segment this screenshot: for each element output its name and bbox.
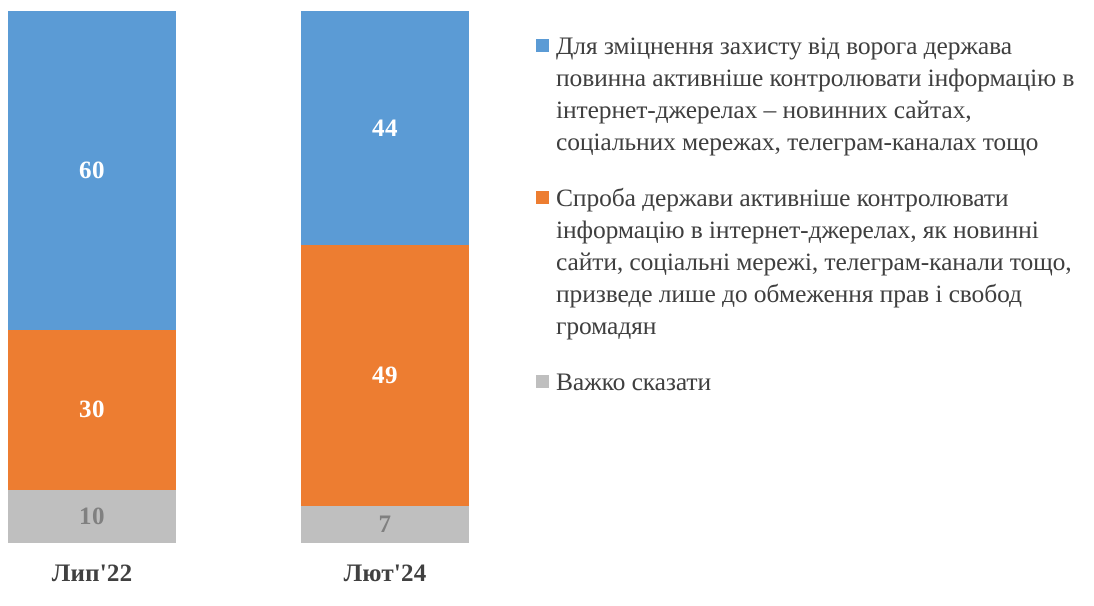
legend-item-0[interactable]: Для зміцнення захисту від ворога держава… — [536, 30, 1088, 158]
bar-value-label: 10 — [79, 504, 105, 529]
legend-swatch-orange-icon — [536, 191, 549, 204]
bar-segment-1-1[interactable]: 49 — [301, 245, 469, 506]
bar-segment-1-2[interactable]: 7 — [301, 506, 469, 543]
bar-stack-1: 44 49 7 — [301, 11, 469, 543]
legend-swatch-gray-icon — [536, 375, 549, 388]
bar-value-label: 49 — [372, 363, 398, 388]
legend-item-label: Важко сказати — [556, 366, 1088, 398]
bar-value-label: 44 — [372, 116, 398, 141]
stacked-bar-chart: 60 30 10 Лип'22 44 49 7 — [0, 0, 1094, 606]
legend-item-label: Для зміцнення захисту від ворога держава… — [556, 30, 1088, 158]
bar-segment-0-0[interactable]: 60 — [8, 11, 176, 330]
bar-group-0[interactable]: 60 30 10 Лип'22 — [8, 0, 176, 606]
bar-segment-1-0[interactable]: 44 — [301, 11, 469, 245]
bar-group-1[interactable]: 44 49 7 Лют'24 — [301, 0, 469, 606]
x-axis-label-1: Лют'24 — [301, 560, 469, 588]
bar-value-label: 60 — [79, 158, 105, 183]
bar-segment-0-2[interactable]: 10 — [8, 490, 176, 543]
bar-value-label: 7 — [379, 512, 392, 537]
legend-item-label: Спроба держави активніше контролювати ін… — [556, 182, 1088, 342]
x-axis-label-0: Лип'22 — [8, 560, 176, 588]
bar-value-label: 30 — [79, 397, 105, 422]
chart-legend: Для зміцнення захисту від ворога держава… — [536, 30, 1088, 422]
bar-stack-0: 60 30 10 — [8, 11, 176, 543]
legend-item-1[interactable]: Спроба держави активніше контролювати ін… — [536, 182, 1088, 342]
legend-swatch-blue-icon — [536, 39, 549, 52]
bar-segment-0-1[interactable]: 30 — [8, 330, 176, 490]
plot-area: 60 30 10 Лип'22 44 49 7 — [0, 0, 500, 606]
legend-item-2[interactable]: Важко сказати — [536, 366, 1088, 398]
